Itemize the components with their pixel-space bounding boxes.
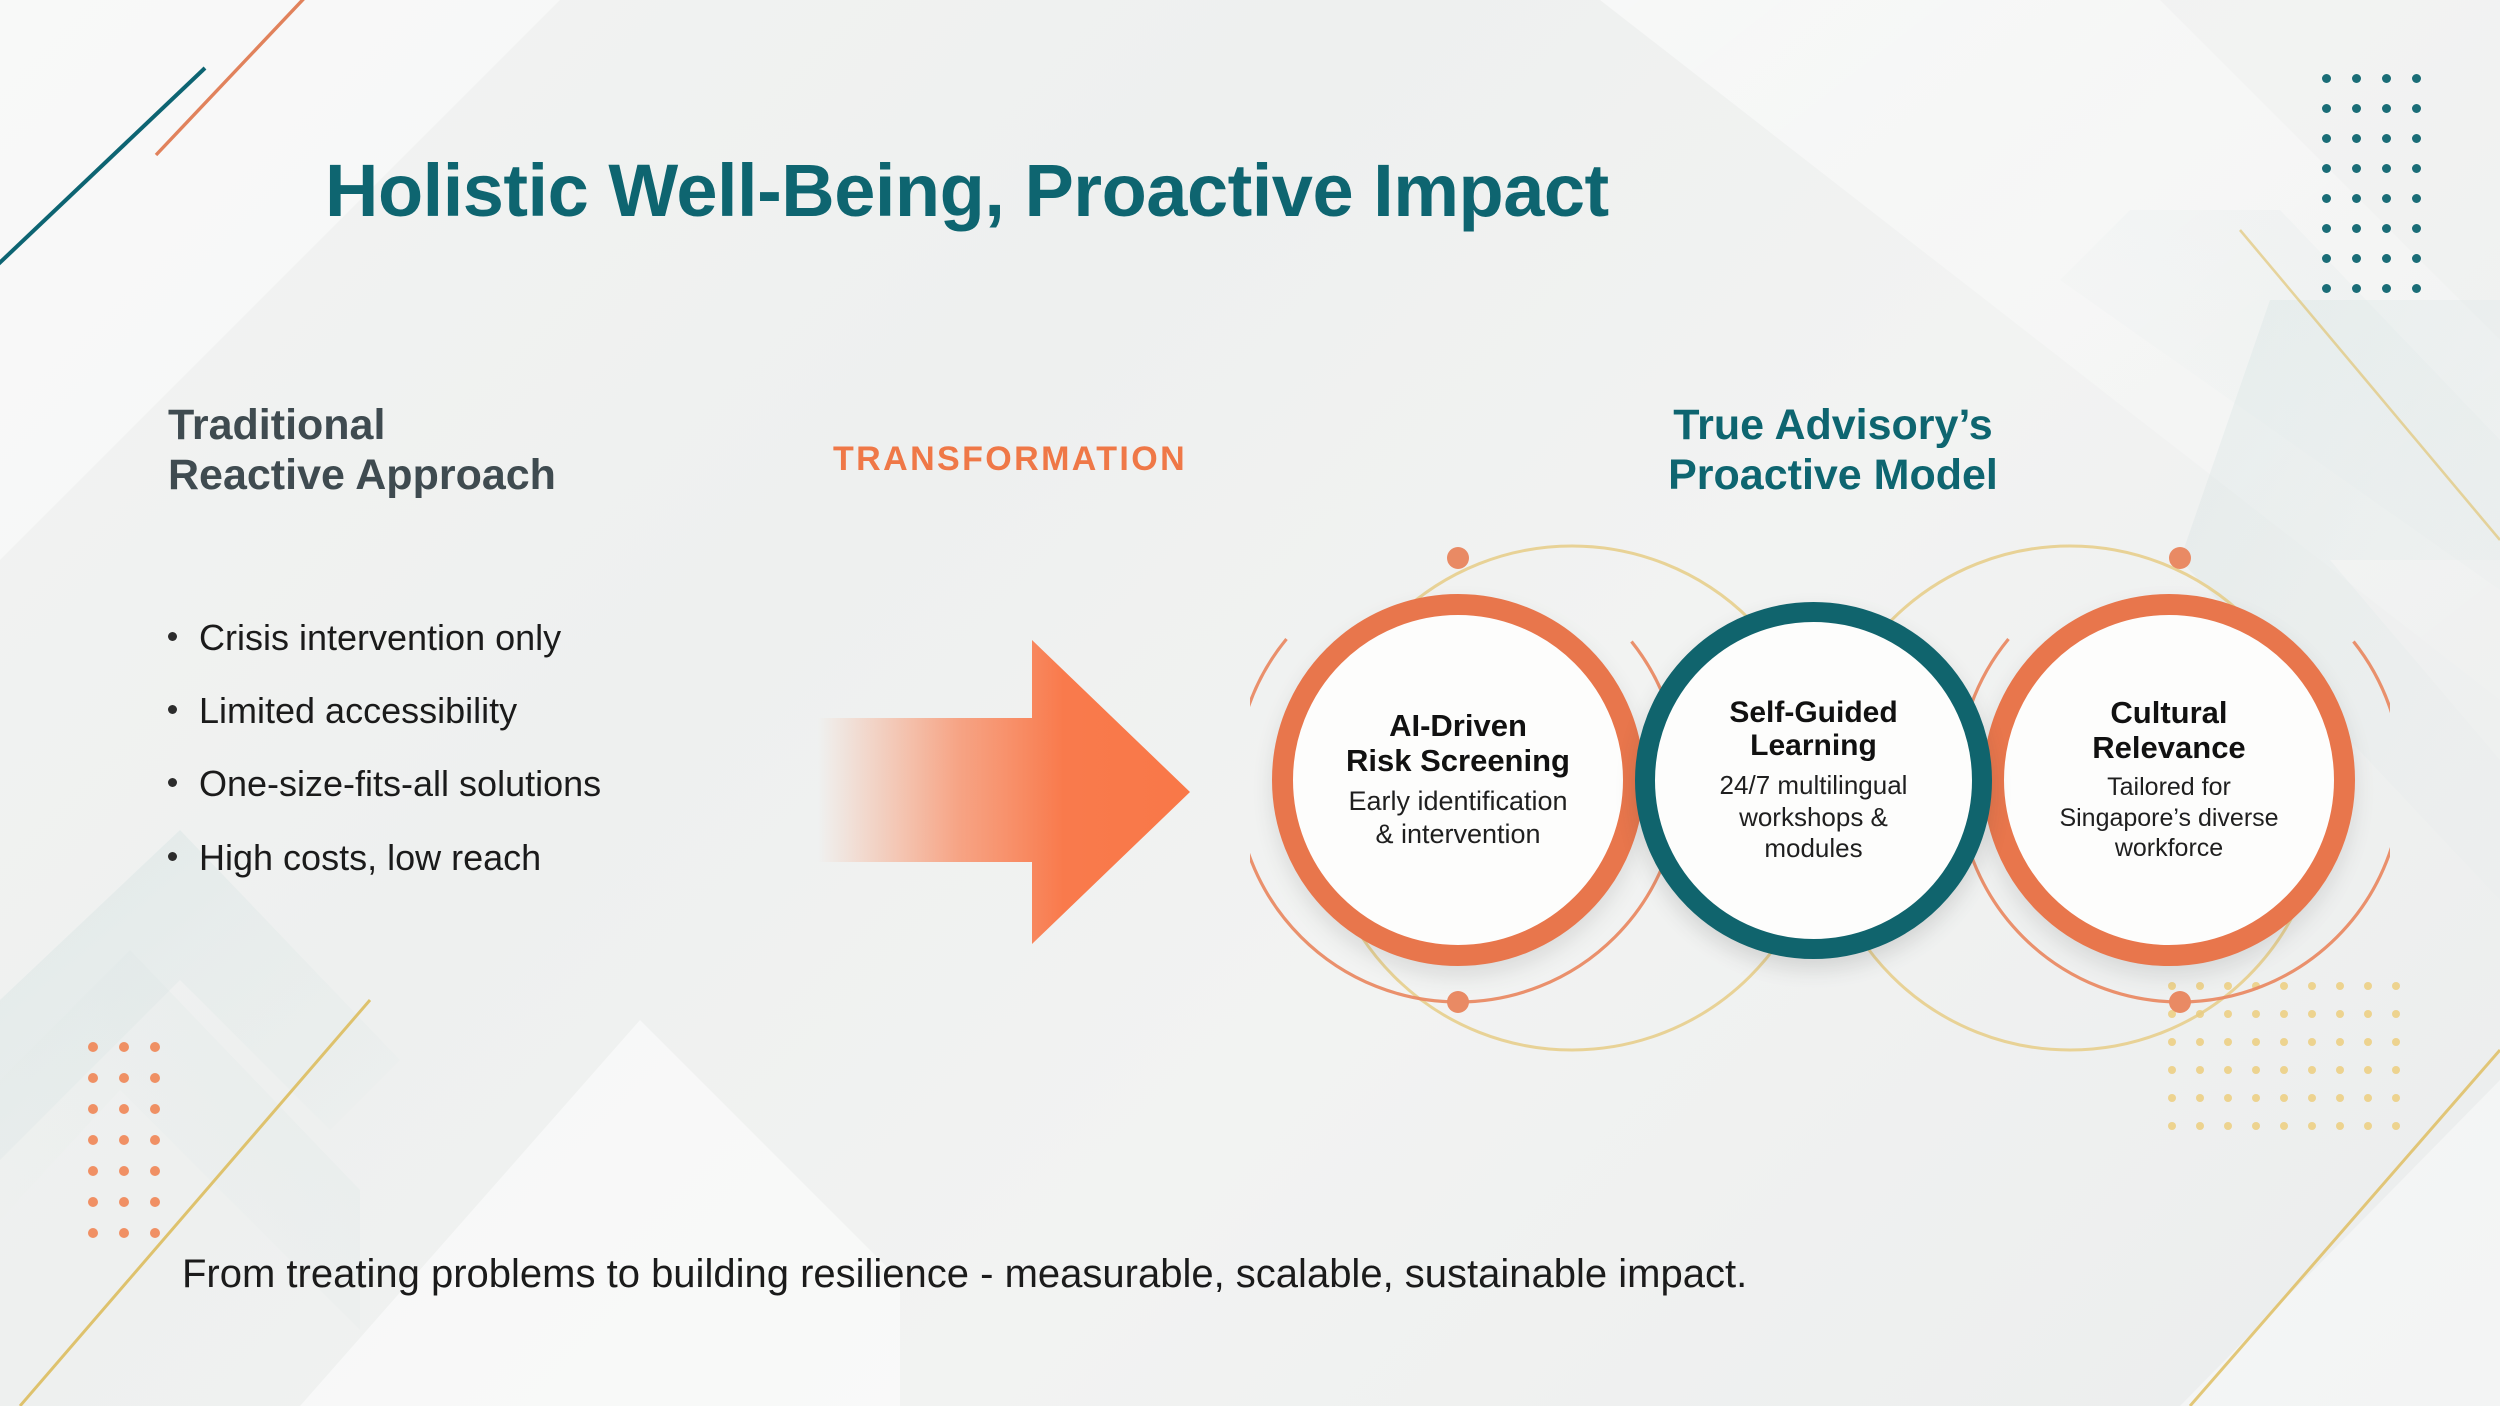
slide-caption: From treating problems to building resil… [182,1252,1747,1297]
transformation-label: TRANSFORMATION [833,440,1187,479]
list-item-label: One-size-fits-all solutions [199,762,601,805]
decorative-dot [88,1197,98,1207]
decorative-dot [2382,134,2391,143]
decorative-dot [2364,1122,2372,1130]
decorative-dot [2412,194,2421,203]
pillar-title: AI-Driven Risk Screening [1346,709,1570,778]
diagonal-line-teal [0,68,205,272]
decorative-dot [88,1073,98,1083]
pillar-card-ai-driven-risk-screening[interactable]: AI-Driven Risk Screening Early identific… [1272,594,1644,966]
decorative-dot [2352,74,2361,83]
decorative-dot [2352,194,2361,203]
decorative-dot [2352,224,2361,233]
decorative-dot [2352,164,2361,173]
decorative-dot [150,1104,160,1114]
bullet-dot-icon [168,705,177,714]
diagonal-line-orange [156,0,312,155]
decorative-dot [2252,1122,2260,1130]
bullet-dot-icon [168,778,177,787]
decorative-dot [2308,1122,2316,1130]
decorative-dot [2382,164,2391,173]
decorative-dot [150,1228,160,1238]
right-column-heading: True Advisory’s Proactive Model [1603,400,2063,501]
decorative-dot [2322,134,2331,143]
list-item-label: Crisis intervention only [199,616,561,659]
decorative-dot [150,1042,160,1052]
chevron-top-right-2 [2060,210,2500,590]
decorative-dot [2322,74,2331,83]
diagonal-line-gold-topright [2240,230,2500,540]
pillar-card-cultural-relevance[interactable]: Cultural Relevance Tailored for Singapor… [1983,594,2355,966]
decorative-dot [88,1042,98,1052]
decorative-dot [2412,134,2421,143]
list-item: High costs, low reach [168,836,808,879]
decorative-dot [150,1135,160,1145]
wash-bottom-left [300,1020,900,1406]
arrow-right-icon [818,630,1238,970]
decorative-dot [119,1042,129,1052]
decorative-dot [2392,1010,2400,1018]
slide-title: Holistic Well-Being, Proactive Impact [325,148,1609,233]
pillar-subtitle: Tailored for Singapore’s diverse workfor… [2059,772,2278,864]
proactive-model-cluster: AI-Driven Risk Screening Early identific… [1250,540,2390,1110]
decorative-dot [2322,254,2331,263]
decorative-dot [88,1135,98,1145]
decorative-dot [150,1073,160,1083]
decorative-dot [2392,1094,2400,1102]
list-item: One-size-fits-all solutions [168,762,808,805]
decorative-dot [2224,1122,2232,1130]
decorative-dot [2322,284,2331,293]
decorative-dot [2382,284,2391,293]
pillar-subtitle: 24/7 multilingual workshops & modules [1720,770,1908,865]
decorative-dot [2382,224,2391,233]
decorative-dot [119,1104,129,1114]
list-item-label: High costs, low reach [199,836,541,879]
decorative-dot [2412,224,2421,233]
decorative-dot [2322,194,2331,203]
pillar-card-self-guided-learning[interactable]: Self-Guided Learning 24/7 multilingual w… [1635,602,1992,959]
decorative-dot [2336,1122,2344,1130]
decorative-dot [2382,194,2391,203]
decorative-dot [2168,1122,2176,1130]
decorative-dot [119,1135,129,1145]
pillar-title: Cultural Relevance [2092,696,2245,765]
list-item-label: Limited accessibility [199,689,517,732]
decorative-dot [2412,284,2421,293]
decorative-dot [2280,1122,2288,1130]
dot-grid-orange [88,1042,160,1238]
left-column-heading: Traditional Reactive Approach [168,400,556,501]
decorative-dot [88,1228,98,1238]
decorative-dot [2392,982,2400,990]
decorative-dot [2392,1038,2400,1046]
dot-grid-teal [2322,74,2421,293]
left-heading-line-1: Traditional [168,400,556,450]
transformation-arrow [818,630,1238,970]
right-heading-line-2: Proactive Model [1603,450,2063,500]
decorative-dot [2412,74,2421,83]
bullet-dot-icon [168,632,177,641]
decorative-dot [119,1197,129,1207]
wash-bottom-right [2180,1080,2500,1406]
decorative-dot [2352,134,2361,143]
orange-arc-endpoint-dot [1447,547,1469,569]
decorative-dot [2322,224,2331,233]
decorative-dot [2352,254,2361,263]
decorative-dot [150,1197,160,1207]
decorative-dot [2382,104,2391,113]
decorative-dot [2322,104,2331,113]
left-heading-line-2: Reactive Approach [168,450,556,500]
decorative-dot [2382,74,2391,83]
pillar-title: Self-Guided Learning [1729,696,1897,763]
decorative-dot [150,1166,160,1176]
reactive-approach-list: Crisis intervention only Limited accessi… [168,616,808,909]
bullet-dot-icon [168,852,177,861]
orange-arc-endpoint-dot [1447,991,1469,1013]
decorative-dot [2352,104,2361,113]
decorative-dot [2382,254,2391,263]
decorative-dot [119,1228,129,1238]
decorative-dot [2322,164,2331,173]
decorative-dot [119,1073,129,1083]
decorative-dot [2412,254,2421,263]
diagonal-line-gold-left [20,1000,370,1406]
decorative-dot [2412,104,2421,113]
list-item: Crisis intervention only [168,616,808,659]
orange-arc-endpoint-dot [2169,547,2191,569]
list-item: Limited accessibility [168,689,808,732]
orange-arc-endpoint-dot [2169,991,2191,1013]
decorative-dot [88,1104,98,1114]
pillar-subtitle: Early identification & intervention [1348,785,1567,851]
decorative-dot [88,1166,98,1176]
right-heading-line-1: True Advisory’s [1603,400,2063,450]
decorative-dot [2392,1066,2400,1074]
decorative-dot [2352,284,2361,293]
decorative-dot [119,1166,129,1176]
decorative-dot [2412,164,2421,173]
decorative-dot [2392,1122,2400,1130]
decorative-dot [2196,1122,2204,1130]
slide-canvas: Holistic Well-Being, Proactive Impact Tr… [0,0,2500,1406]
